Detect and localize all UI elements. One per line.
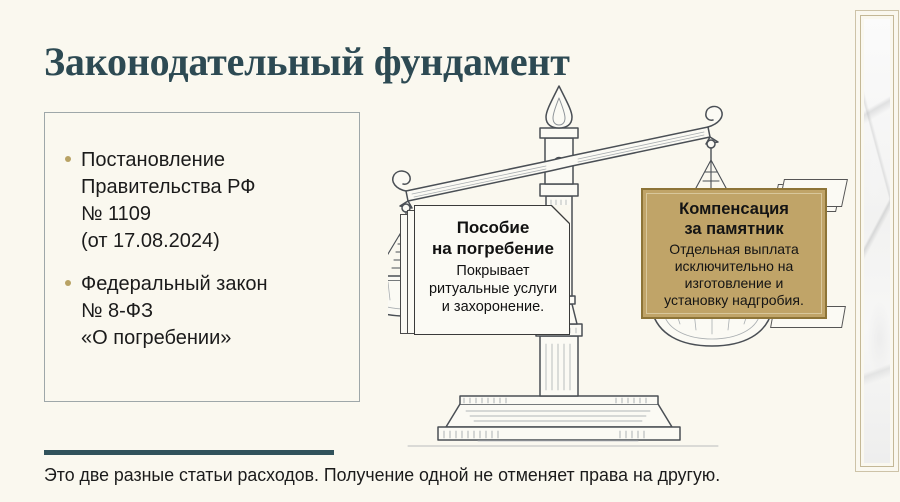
footer-caption: Это две разные статьи расходов. Получени… — [44, 462, 774, 488]
compensation-callout-box: Компенсация за памятник Отдельная выплат… — [641, 188, 827, 319]
bullet-item-label: Федеральный закон № 8-ФЗ «О погребении» — [81, 271, 268, 352]
list-item: Федеральный закон № 8-ФЗ «О погребении» — [65, 271, 347, 352]
left-pan-body: Покрывает ритуальные услуги и захоронени… — [418, 262, 568, 316]
right-pan-heading: Компенсация за памятник — [679, 199, 789, 239]
marble-decor-inner-frame — [860, 15, 894, 467]
bullet-dot-icon — [65, 280, 71, 286]
legal-basis-card: Постановление Правительства РФ № 1109 (о… — [44, 112, 360, 402]
compensation-callout-inner: Компенсация за памятник Отдельная выплат… — [646, 193, 822, 314]
marble-texture — [864, 19, 890, 463]
left-pan-paper-label: Пособие на погребение Покрывает ритуальн… — [400, 205, 570, 340]
footer-accent-bar — [44, 450, 334, 455]
bullet-item-label: Постановление Правительства РФ № 1109 (о… — [81, 147, 255, 255]
marble-decor-panel — [855, 10, 899, 472]
list-item: Постановление Правительства РФ № 1109 (о… — [65, 147, 347, 255]
left-pan-heading: Пособие на погребение — [418, 217, 568, 259]
bullet-list: Постановление Правительства РФ № 1109 (о… — [65, 147, 347, 368]
slide-canvas: Законодательный фундамент Постановление … — [0, 0, 900, 502]
bullet-dot-icon — [65, 156, 71, 162]
left-pan-text-block: Пособие на погребение Покрывает ритуальн… — [418, 217, 568, 316]
right-pan-body: Отдельная выплата исключительно на изгот… — [664, 241, 804, 309]
